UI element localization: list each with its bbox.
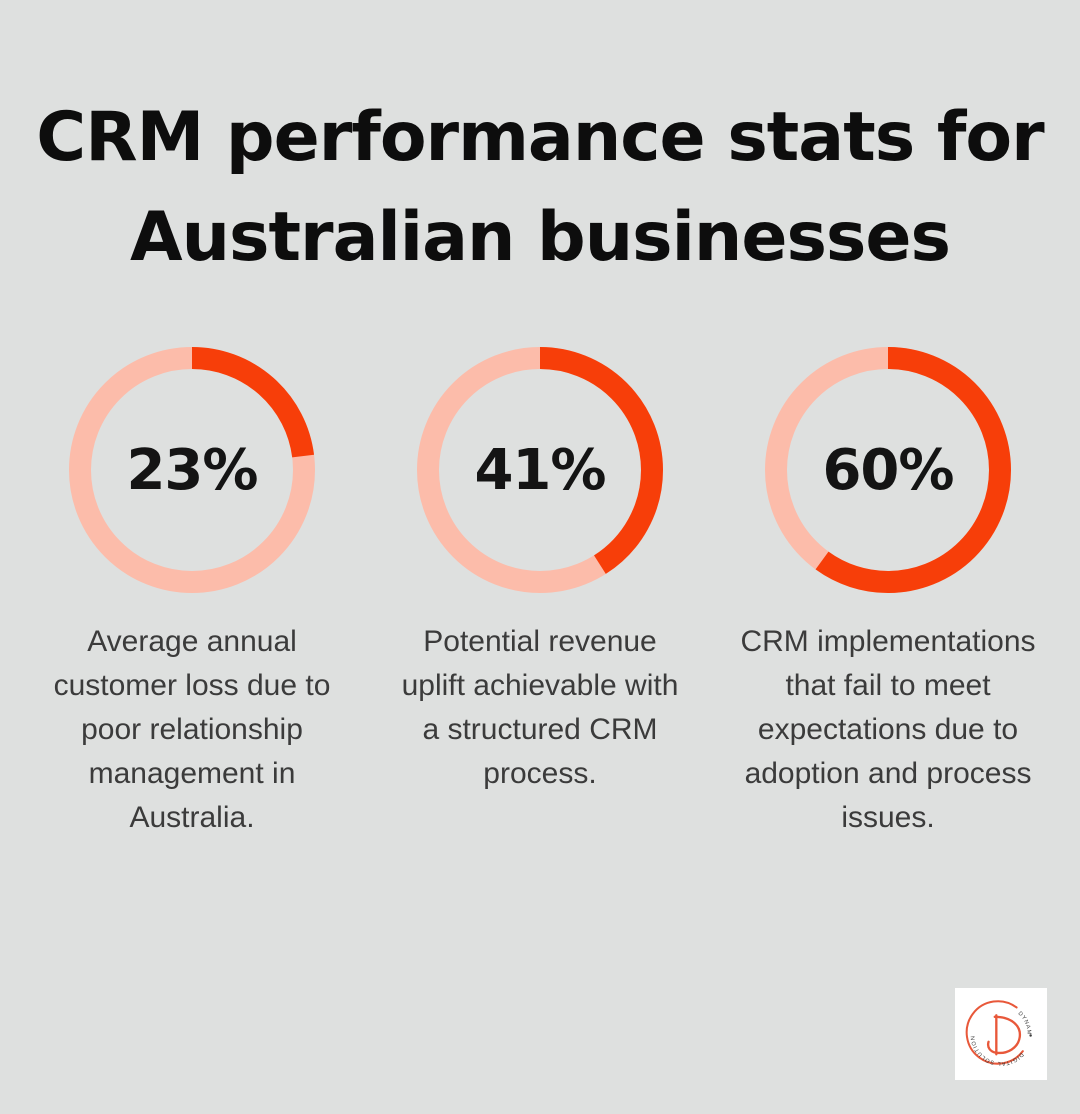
stat-caption-2: Potential revenue uplift achievable with…	[390, 620, 690, 796]
donut-chart-1: 23%	[69, 347, 315, 593]
stat-caption-1: Average annual customer loss due to poor…	[42, 620, 342, 840]
stat-card-3: 60% CRM implementations that fail to mee…	[714, 347, 1062, 840]
stat-caption-3: CRM implementations that fail to meet ex…	[738, 620, 1038, 840]
donut-value-3: 60%	[765, 347, 1011, 593]
donut-chart-2: 41%	[417, 347, 663, 593]
donut-value-1: 23%	[69, 347, 315, 593]
brand-logo-icon: DYNAMIC DIGITAL SOLUTIONS	[962, 995, 1040, 1073]
page-title: CRM performance stats for Australian bus…	[0, 88, 1080, 288]
logo-monogram-icon	[988, 1017, 1020, 1053]
stat-card-2: 41% Potential revenue uplift achievable …	[366, 347, 714, 796]
infographic-canvas: CRM performance stats for Australian bus…	[0, 0, 1080, 1114]
logo-separator-dot-icon	[1029, 1034, 1031, 1036]
logo-ring-icon	[967, 1001, 1023, 1063]
stats-row: 23% Average annual customer loss due to …	[0, 347, 1080, 840]
page-title-line-1: CRM performance stats for	[0, 88, 1080, 188]
brand-logo: DYNAMIC DIGITAL SOLUTIONS	[955, 988, 1047, 1080]
donut-chart-3: 60%	[765, 347, 1011, 593]
stat-card-1: 23% Average annual customer loss due to …	[18, 347, 366, 840]
donut-value-2: 41%	[417, 347, 663, 593]
page-title-line-2: Australian businesses	[0, 188, 1080, 288]
